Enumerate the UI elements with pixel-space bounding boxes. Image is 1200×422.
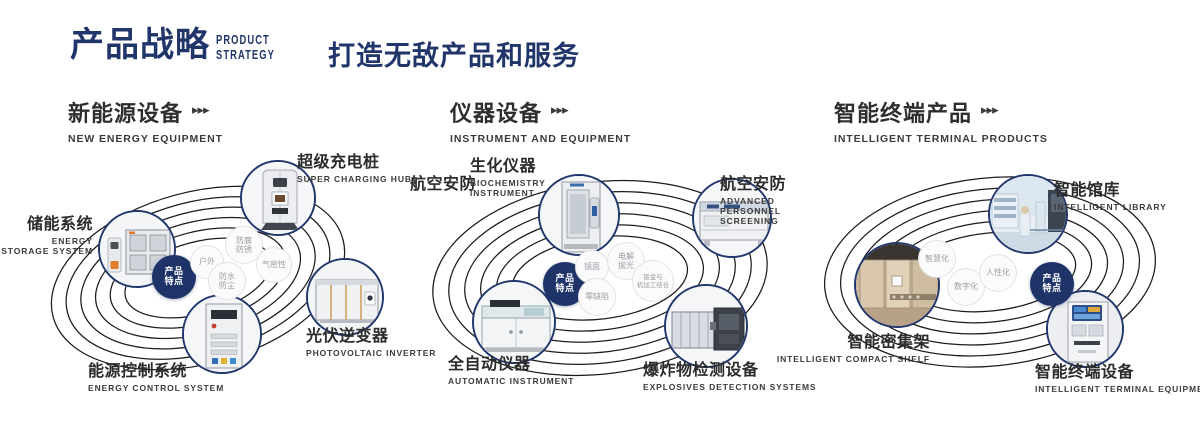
center-badge-line2: 特点 [164, 277, 183, 288]
center-badge-line2: 特点 [1042, 284, 1061, 295]
chevron-right-icon: ▸▸▸ [981, 102, 998, 118]
section-heading-instrument: 仪器设备▸▸▸ INSTRUMENT AND EQUIPMENT [450, 96, 631, 145]
caption-en: INTELLIGENT TERMINAL EQUIPMENT [1035, 384, 1200, 394]
feature-tag-line: 电解 [618, 252, 634, 262]
feature-tag-zero-defect: 零缺陷 [578, 278, 616, 316]
page-subtitle: 打造无敌产品和服务 [328, 34, 580, 73]
feature-tag-line: 镜面 [584, 262, 600, 272]
caption-cn: 生化仪器 [470, 152, 536, 176]
section-heading-cn: 仪器设备 [450, 96, 542, 128]
orbit-group-instrument: 产品 特点 镜面 电解 抛光 零缺陷 钣金与 机加工结合 航空安防 生化仪器 B… [400, 150, 800, 400]
caption-en: ENERGY CONTROL SYSTEM [88, 383, 224, 393]
caption-cn: 智能终端设备 [1035, 358, 1200, 382]
feature-tag-sheetmetal-machining: 钣金与 机加工结合 [632, 260, 674, 302]
section-heading-en: INSTRUMENT AND EQUIPMENT [450, 133, 631, 145]
page-title-english: PRODUCT STRATEGY [216, 32, 275, 62]
feature-tag-line: 机加工结合 [637, 281, 670, 289]
caption-automatic-instrument: 全自动仪器 AUTOMATIC INSTRUMENT [448, 350, 574, 386]
feature-tag-line: 钣金与 [643, 273, 663, 281]
feature-tag-line: 防尘 [219, 281, 235, 291]
feature-tag-airtightness: 气密性 [256, 247, 292, 283]
caption-en: SUPER CHARGING HUB [297, 174, 412, 184]
feature-tag-waterproof-dustproof: 防水 防尘 [208, 262, 246, 300]
section-heading-en: INTELLIGENT TERMINAL PRODUCTS [834, 133, 1048, 145]
section-heading-cn: 智能终端产品 [834, 96, 972, 128]
orbit-group-intelligent-terminal: 产品 特点 智慧化 数字化 人性化 智能馆库 INTELLIGENT LIBRA… [790, 150, 1200, 400]
product-strategy-infographic: 产品战略 PRODUCT STRATEGY 打造无敌产品和服务 新能源设备▸▸▸… [0, 0, 1200, 422]
product-node-biochemistry-instrument[interactable] [538, 174, 620, 256]
center-badge-product-features: 产品 特点 [1030, 262, 1074, 306]
feature-tag-line: 防腐 [236, 236, 252, 246]
caption-energy-control: 能源控制系统 ENERGY CONTROL SYSTEM [88, 357, 224, 393]
center-badge-line1: 产品 [164, 267, 183, 278]
orbit-group-new-energy: 产品 特点 户外 防腐 防锈 防水 防尘 气密性 储能系统 ENERGY STO… [0, 150, 400, 400]
feature-tag-line: 防水 [219, 272, 235, 282]
page-title-english-line1: PRODUCT [216, 32, 275, 47]
caption-en: ENERGY STORAGE SYSTEM [1, 236, 93, 256]
feature-tag-line: 抛光 [618, 261, 634, 271]
page-title: 产品战略 [70, 28, 210, 62]
caption-en: INTELLIGENT LIBRARY [1054, 202, 1167, 212]
caption-en: INTELLIGENT COMPACT SHELF [770, 354, 930, 364]
caption-en: AUTOMATIC INSTRUMENT [448, 376, 574, 386]
caption-aviation-security-left: 航空安防 [410, 170, 476, 194]
feature-tag-line: 智慧化 [925, 254, 949, 264]
caption-intelligent-library: 智能馆库 INTELLIGENT LIBRARY [1054, 176, 1167, 212]
feature-tag-line: 户外 [199, 257, 215, 267]
explosives-detector-icon [666, 286, 746, 366]
feature-tag-line: 数字化 [954, 282, 978, 292]
feature-tag-line: 零缺陷 [585, 292, 609, 302]
caption-terminal-equipment: 智能终端设备 INTELLIGENT TERMINAL EQUIPMENT [1035, 358, 1200, 394]
caption-charging-pile: 超级充电桩 SUPER CHARGING HUB [297, 148, 412, 184]
caption-cn: 超级充电桩 [297, 148, 412, 172]
biochemistry-analyzer-icon [540, 176, 618, 254]
caption-cn: 储能系统 [0, 210, 93, 234]
caption-cn: 能源控制系统 [88, 357, 224, 381]
caption-en: BIOCHEMISTRY INSTRUMENT [470, 178, 528, 198]
feature-tag-line: 气密性 [262, 260, 286, 270]
feature-tag-intelligent: 智慧化 [918, 240, 956, 278]
feature-tag-humanized: 人性化 [979, 254, 1017, 292]
section-heading-new-energy: 新能源设备▸▸▸ NEW ENERGY EQUIPMENT [68, 96, 223, 145]
caption-compact-shelf: 智能密集架 INTELLIGENT COMPACT SHELF [770, 328, 930, 364]
section-heading-en: NEW ENERGY EQUIPMENT [68, 133, 223, 145]
caption-cn: 航空安防 [410, 170, 476, 194]
chevron-right-icon: ▸▸▸ [192, 102, 209, 118]
section-heading-cn: 新能源设备 [68, 96, 183, 128]
caption-cn: 智能密集架 [770, 328, 930, 352]
center-badge-line1: 产品 [1042, 274, 1061, 285]
caption-cn: 全自动仪器 [448, 350, 574, 374]
feature-tag-line: 防锈 [236, 245, 252, 255]
feature-tag-line: 人性化 [986, 268, 1010, 278]
center-badge-line1: 产品 [555, 274, 574, 285]
page-title-english-line2: STRATEGY [216, 47, 275, 62]
caption-cn: 智能馆库 [1054, 176, 1167, 200]
section-heading-intelligent-terminal: 智能终端产品▸▸▸ INTELLIGENT TERMINAL PRODUCTS [834, 96, 1048, 145]
page-header: 产品战略 PRODUCT STRATEGY 打造无敌产品和服务 [0, 0, 1200, 92]
caption-biochemistry-instrument: 生化仪器 BIOCHEMISTRY INSTRUMENT [470, 152, 536, 198]
caption-energy-storage: 储能系统 ENERGY STORAGE SYSTEM [0, 210, 93, 256]
center-badge-line2: 特点 [555, 284, 574, 295]
chevron-right-icon: ▸▸▸ [551, 102, 568, 118]
